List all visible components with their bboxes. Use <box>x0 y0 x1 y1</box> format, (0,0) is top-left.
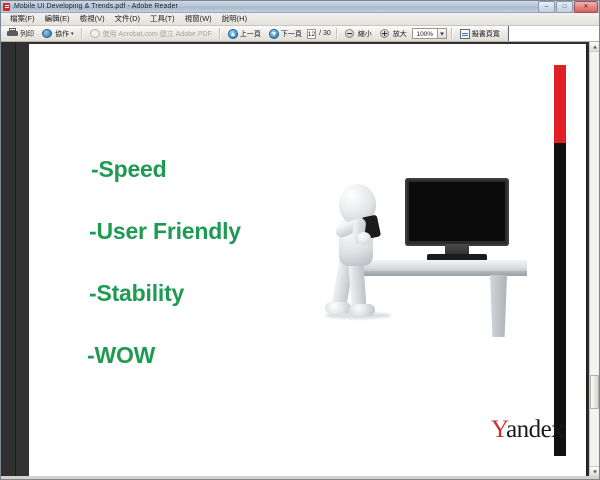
menu-bar: 檔案(F) 編輯(E) 檢視(V) 文件(D) 工具(T) 視窗(W) 說明(H… <box>1 13 599 26</box>
minimize-icon: – <box>545 4 548 10</box>
figure-foot-right <box>349 304 375 316</box>
fit-page-button[interactable]: 完整的一頁 <box>505 26 599 41</box>
arrow-up-icon <box>228 29 238 39</box>
monitor-icon <box>405 178 509 246</box>
menu-window[interactable]: 視窗(W) <box>180 13 217 25</box>
figure-hand <box>357 232 371 245</box>
maximize-button[interactable]: □ <box>556 1 573 13</box>
illustration-3d-figure-desk-monitor <box>317 172 527 352</box>
navigation-pane[interactable] <box>1 42 16 476</box>
acrobat-cloud-icon <box>90 28 101 39</box>
toolbar-separator <box>451 28 453 39</box>
yandex-logo: Yandex <box>491 416 563 444</box>
figure-foot-left <box>325 302 351 314</box>
zoom-out-icon <box>345 28 356 39</box>
scrollbar-thumb[interactable] <box>590 375 599 409</box>
document-area: -Speed -User Friendly -Stability -WOW <box>1 42 599 476</box>
printer-icon <box>7 28 18 39</box>
previous-page-label: 上一頁 <box>240 29 261 39</box>
toolbar-separator <box>336 28 338 39</box>
scrollbar-track[interactable] <box>590 52 599 466</box>
slide-bullet-speed: -Speed <box>91 156 166 183</box>
scroll-up-button[interactable] <box>590 42 599 52</box>
next-page-button[interactable]: 下一頁 <box>266 26 305 41</box>
arrow-down-icon <box>269 29 279 39</box>
collaborate-button[interactable]: 協作 ▾ <box>39 26 77 41</box>
vertical-scrollbar[interactable] <box>589 42 599 476</box>
previous-page-button[interactable]: 上一頁 <box>225 26 264 41</box>
collaborate-icon <box>42 28 53 39</box>
close-button[interactable]: ✕ <box>574 1 598 13</box>
fit-width-icon <box>460 29 470 39</box>
maximize-icon: □ <box>563 4 567 10</box>
fit-page-icon <box>508 26 599 42</box>
toolbar: 列印 協作 ▾ 使用 Acrobat.com 建立 Adobe PDF 上一頁 … <box>1 26 599 42</box>
fit-width-button[interactable]: 擬書頁寬 <box>457 26 503 41</box>
menu-document[interactable]: 文件(D) <box>110 13 145 25</box>
minimize-button[interactable]: – <box>538 1 555 13</box>
zoom-level-input[interactable]: 100% <box>412 28 438 39</box>
menu-help[interactable]: 說明(H) <box>217 13 252 25</box>
yandex-logo-rest: andex <box>506 416 563 443</box>
create-adobe-pdf-label: 使用 Acrobat.com 建立 Adobe PDF <box>103 29 212 39</box>
zoom-combobox[interactable]: 100% <box>412 28 447 39</box>
adobe-reader-icon <box>3 3 11 11</box>
slide-bullet-user-friendly: -User Friendly <box>89 218 241 245</box>
fit-width-label: 擬書頁寬 <box>472 29 500 39</box>
next-page-label: 下一頁 <box>281 29 302 39</box>
zoom-dropdown-arrow-icon[interactable] <box>438 28 447 39</box>
zoom-out-label: 縮小 <box>358 29 372 39</box>
print-button[interactable]: 列印 <box>4 26 37 41</box>
print-label: 列印 <box>20 29 34 39</box>
window-bottom-edge <box>1 476 599 479</box>
zoom-in-button[interactable]: 放大 <box>377 26 410 41</box>
toolbar-separator <box>81 28 83 39</box>
create-adobe-pdf-button[interactable]: 使用 Acrobat.com 建立 Adobe PDF <box>87 26 215 41</box>
zoom-out-button[interactable]: 縮小 <box>342 26 375 41</box>
page-number-input[interactable]: 12 <box>307 29 316 39</box>
window-controls: – □ ✕ <box>538 1 598 13</box>
page-total-label: / 30 <box>318 30 332 37</box>
accent-bar-red-segment <box>554 65 566 143</box>
slide-bullet-stability: -Stability <box>89 280 184 307</box>
title-bar[interactable]: Mobile UI Developing & Trends.pdf - Adob… <box>1 1 599 13</box>
page-viewport[interactable]: -Speed -User Friendly -Stability -WOW <box>16 42 599 476</box>
collaborate-label: 協作 <box>55 29 69 39</box>
yandex-logo-y: Y <box>491 416 506 443</box>
desk-leg-right <box>490 275 507 337</box>
menu-file[interactable]: 檔案(F) <box>5 13 40 25</box>
zoom-in-label: 放大 <box>393 29 407 39</box>
adobe-reader-window: Mobile UI Developing & Trends.pdf - Adob… <box>0 0 600 480</box>
monitor-screen <box>409 182 505 241</box>
toolbar-separator <box>219 28 221 39</box>
accent-bar <box>554 65 566 456</box>
window-title: Mobile UI Developing & Trends.pdf - Adob… <box>14 1 178 12</box>
menu-tools[interactable]: 工具(T) <box>145 13 180 25</box>
slide-bullet-wow: -WOW <box>87 342 155 369</box>
scroll-down-button[interactable] <box>590 466 599 476</box>
menu-edit[interactable]: 編輯(E) <box>40 13 75 25</box>
pdf-page: -Speed -User Friendly -Stability -WOW <box>29 44 586 476</box>
chevron-down-icon: ▾ <box>71 31 74 37</box>
zoom-in-icon <box>380 28 391 39</box>
menu-view[interactable]: 檢視(V) <box>75 13 110 25</box>
close-icon: ✕ <box>583 4 588 10</box>
